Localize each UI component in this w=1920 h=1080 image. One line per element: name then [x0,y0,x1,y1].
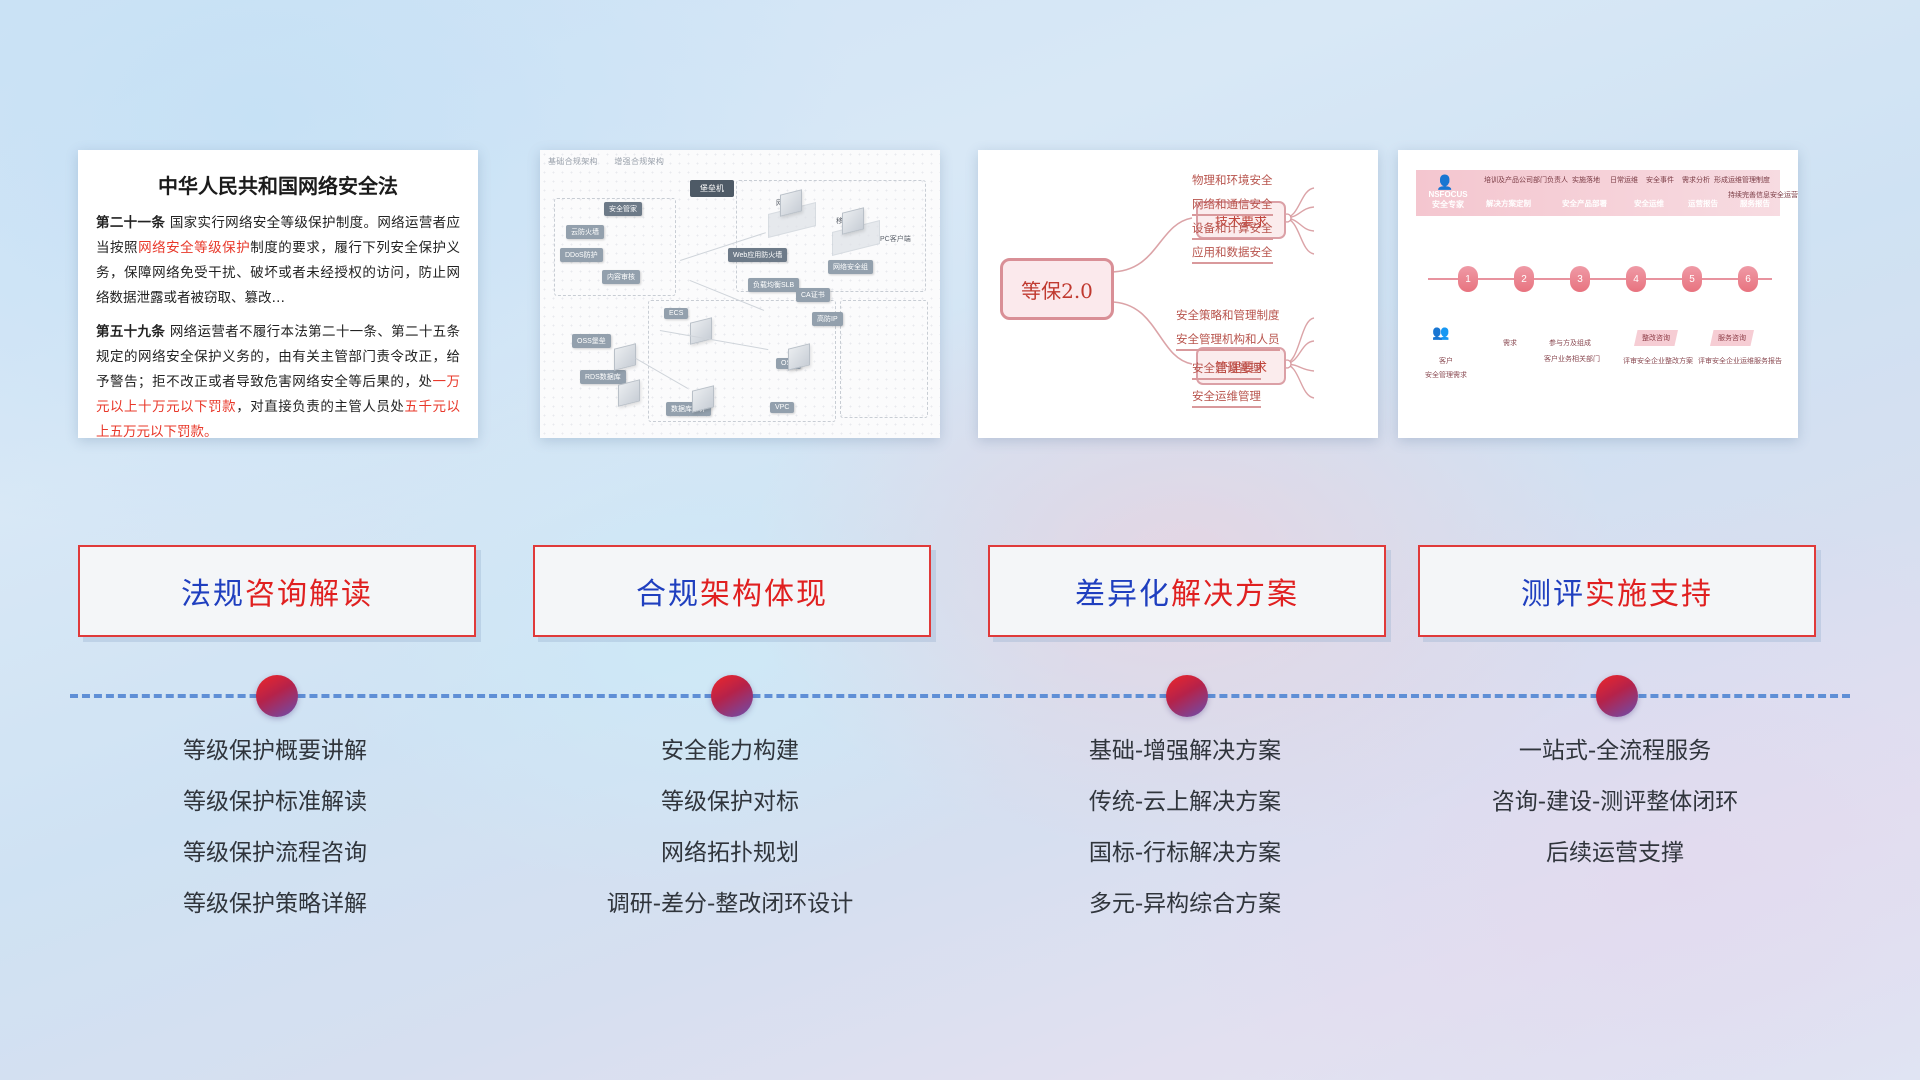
header-item-3: 安全事件 [1646,175,1674,185]
list-item: 等级保护策略详解 [78,893,472,916]
diagram-node-oss-bastion: OSS堡垒 [572,334,611,348]
expert-avatar-icon: 👤 [1436,174,1453,191]
diagram-node-waf: Web应用防火墙 [728,248,787,262]
participants-label: 参与方及组成 [1536,338,1604,348]
brand-block: NSFOCUS 安全专家 [1420,190,1476,211]
header-item-0: 培训及产品公司部门负责人 [1484,175,1568,185]
timeline-dot-1[interactable] [256,675,298,717]
mindmap-leaf-network-comm: 网络和通信安全 [1192,196,1273,216]
service-timeline-card[interactable]: 👤 NSFOCUS 安全专家 培训及产品公司部门负责人 实施落地 日常运维 安全… [1398,150,1798,438]
list-item: 国标-行标解决方案 [988,842,1382,865]
service-sub-2: 安全运维 [1634,198,1664,209]
list-item: 等级保护对标 [533,791,927,814]
mindmap-leaf-construction-mgmt: 安全建设管理 [1192,360,1261,380]
timeline-step-5[interactable]: 5 [1682,266,1702,292]
diagram-node-security-butler: 安全管家 [604,202,642,216]
rectification-consult-tag[interactable]: 整改咨询 [1634,330,1678,346]
timeline-dot-2[interactable] [711,675,753,717]
law-paragraph-2: 第五十九条 网络运营者不履行本法第二十一条、第二十五条规定的网络安全保护义务的，… [96,320,460,438]
timeline-step-2[interactable]: 2 [1514,266,1534,292]
timeline-dot-3[interactable] [1166,675,1208,717]
diagram-label-enhanced: 增强合规架构 [614,157,664,166]
list-item: 基础-增强解决方案 [988,740,1382,763]
headline-2-blue: 合规 [636,577,700,612]
timeline-step-6[interactable]: 6 [1738,266,1758,292]
brand-subtitle: 安全专家 [1420,200,1476,210]
diagram-node-rds: RDS数据库 [580,370,626,384]
headline-box-compliance-architecture[interactable]: 合规架构体现 [533,545,931,637]
law-paragraph-1: 第二十一条 国家实行网络安全等级保护制度。网络运营者应当按照网络安全等级保护制度… [96,211,460,311]
poster-stage: 中华人民共和国网络安全法 第二十一条 国家实行网络安全等级保护制度。网络运营者应… [0,0,1920,1080]
list-item: 后续运营支撑 [1418,842,1812,865]
mindmap-leaf-device-compute: 设备和计算安全 [1192,220,1273,240]
participants-sub-label: 客户业务相关部门 [1530,354,1614,364]
headline-4-blue: 测评 [1521,577,1585,612]
mindmap-leaf-ops-mgmt: 安全运维管理 [1192,388,1261,408]
detail-list-evaluation: 一站式-全流程服务 咨询-建设-测评整体闭环 后续运营支撑 [1418,740,1812,893]
list-item: 一站式-全流程服务 [1418,740,1812,763]
headline-text-1: 法规咨询解读 [181,569,373,613]
header-item-2: 日常运维 [1610,175,1638,185]
customer-sub-label: 安全管理需求 [1410,370,1482,380]
list-item: 等级保护流程咨询 [78,842,472,865]
service-sub-4: 服务报告 [1740,198,1770,209]
architecture-diagram: 基础合规架构 增强合规架构 堡垒机 安全管家 云防火墙 DDoS防护 内容审核 … [540,150,940,438]
customer-label: 客户 [1418,356,1474,366]
headline-text-2: 合规架构体现 [636,569,828,613]
header-item-5: 形成运维管理制度 [1714,175,1770,185]
mindmap-diagram: 等保2.0 技术要求 管理要求 物理和环境安全 网络和通信安全 设备和计算安全 … [978,150,1378,438]
list-item: 传统-云上解决方案 [988,791,1382,814]
mindmap-leaf-policy-system: 安全策略和管理制度 [1176,307,1280,325]
diagram-node-highdefense-ip: 高防IP [812,312,843,326]
architecture-card[interactable]: 基础合规架构 增强合规架构 堡垒机 安全管家 云防火墙 DDoS防护 内容审核 … [540,150,940,438]
list-item: 安全能力构建 [533,740,927,763]
service-tag-sub: 评审安全企业运维服务报告 [1698,356,1782,366]
mindmap-leaf-physical-env: 物理和环境安全 [1192,172,1273,190]
customer-avatar-icon: 👥 [1432,324,1449,341]
timeline-step-1[interactable]: 1 [1458,266,1478,292]
list-item: 多元-异构综合方案 [988,893,1382,916]
detail-lists-row: 等级保护概要讲解 等级保护标准解读 等级保护流程咨询 等级保护策略详解 安全能力… [0,740,1920,960]
diagram-node-bastion: 堡垒机 [690,180,734,197]
headline-text-4: 测评实施支持 [1521,569,1713,613]
mindmap-card[interactable]: 等保2.0 技术要求 管理要求 物理和环境安全 网络和通信安全 设备和计算安全 … [978,150,1378,438]
service-sub-0: 解决方案定制 [1486,198,1531,209]
timeline-dot-4[interactable] [1596,675,1638,717]
headline-text-3: 差异化解决方案 [1075,569,1299,613]
headline-row: 法规咨询解读 合规架构体现 差异化解决方案 测评实施支持 [0,545,1920,643]
headline-3-blue: 差异化 [1075,577,1171,612]
diagram-node-content-audit: 内容审核 [602,270,640,284]
diagram-node-slb: 负载均衡SLB [748,278,799,292]
mindmap-root-node[interactable]: 等保2.0 [1000,258,1114,320]
list-item: 等级保护概要讲解 [78,740,472,763]
diagram-top-labels: 基础合规架构 增强合规架构 [548,156,678,167]
law-text-body: 中华人民共和国网络安全法 第二十一条 国家实行网络安全等级保护制度。网络运营者应… [78,150,478,438]
service-sub-3: 运营报告 [1688,198,1718,209]
diagram-label-basic: 基础合规架构 [548,157,598,166]
headline-box-regulation-consulting[interactable]: 法规咨询解读 [78,545,476,637]
headline-box-evaluation-support[interactable]: 测评实施支持 [1418,545,1816,637]
law-p1-highlight: 网络安全等级保护 [138,240,250,256]
law-title: 中华人民共和国网络安全法 [96,170,460,199]
headline-4-red: 实施支持 [1585,577,1713,612]
service-consult-tag[interactable]: 服务咨询 [1710,330,1754,346]
timeline-step-4[interactable]: 4 [1626,266,1646,292]
headline-box-differentiated-solution[interactable]: 差异化解决方案 [988,545,1386,637]
service-timeline-diagram: 👤 NSFOCUS 安全专家 培训及产品公司部门负责人 实施落地 日常运维 安全… [1398,150,1798,438]
list-item: 网络拓扑规划 [533,842,927,865]
brand-name: NSFOCUS [1420,190,1476,200]
diagram-node-cloud-firewall: 云防火墙 [566,225,604,239]
headline-2-red: 架构体现 [700,577,828,612]
headline-1-blue: 法规 [181,577,245,612]
header-item-1: 实施落地 [1572,175,1600,185]
header-item-4: 需求分析 [1682,175,1710,185]
requirement-label: 需求 [1490,338,1530,348]
headline-1-red: 咨询解读 [245,577,373,612]
law-article-21-label: 第二十一条 [96,215,165,231]
timeline-step-3[interactable]: 3 [1570,266,1590,292]
diagram-node-pc-client: PC客户端 [880,234,911,244]
timeline-axis [1428,278,1772,280]
diagram-node-security-group: 网络安全组 [828,260,873,274]
diagram-node-ddos: DDoS防护 [560,248,603,262]
law-article-59-label: 第五十九条 [96,324,165,340]
mindmap-leaf-org-personnel: 安全管理机构和人员 [1176,331,1280,351]
diagram-zone-bottom-right [840,300,928,418]
list-item: 等级保护标准解读 [78,791,472,814]
timeline-track [70,694,1850,698]
law-p2-part-b: ，对直接负责的主管人员处 [236,399,404,415]
timeline-dashed-line [70,694,1850,698]
detail-list-solution: 基础-增强解决方案 传统-云上解决方案 国标-行标解决方案 多元-异构综合方案 [988,740,1382,944]
list-item: 咨询-建设-测评整体闭环 [1418,791,1812,814]
detail-list-regulation: 等级保护概要讲解 等级保护标准解读 等级保护流程咨询 等级保护策略详解 [78,740,472,944]
diagram-node-ca-cert: CA证书 [796,288,830,302]
diagram-node-vpc: VPC [770,402,794,413]
service-sub-1: 安全产品部署 [1562,198,1607,209]
detail-list-architecture: 安全能力构建 等级保护对标 网络拓扑规划 调研-差分-整改闭环设计 [533,740,927,944]
diagram-node-ecs: ECS [664,308,688,319]
list-item: 调研-差分-整改闭环设计 [533,893,927,916]
headline-3-red: 解决方案 [1171,577,1299,612]
top-cards-row: 中华人民共和国网络安全法 第二十一条 国家实行网络安全等级保护制度。网络运营者应… [0,150,1920,450]
law-card[interactable]: 中华人民共和国网络安全法 第二十一条 国家实行网络安全等级保护制度。网络运营者应… [78,150,478,438]
rectification-tag-sub: 评审安全企业整改方案 [1620,356,1696,366]
mindmap-leaf-app-data: 应用和数据安全 [1192,244,1273,264]
